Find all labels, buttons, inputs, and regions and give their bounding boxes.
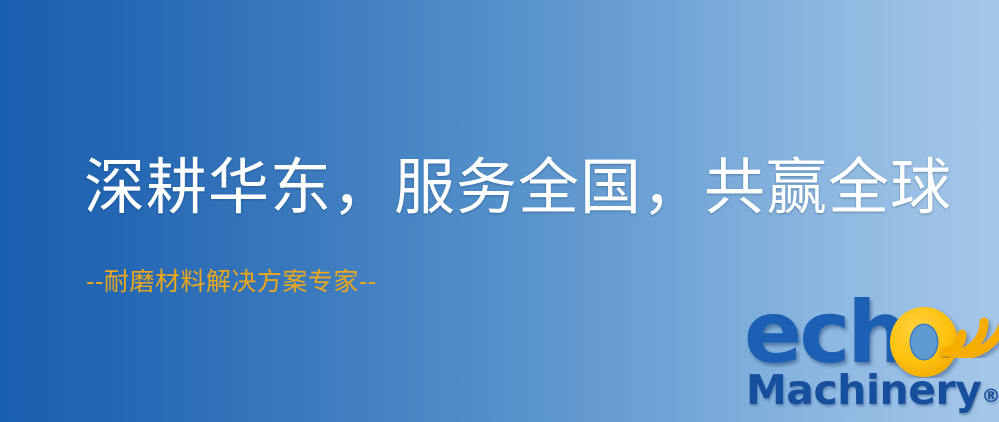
signal-waves-icon — [928, 292, 999, 358]
banner-subtitle: --耐磨材料解决方案专家-- — [86, 266, 377, 298]
logo-machinery-text: Machinery® — [746, 366, 999, 414]
echo-machinery-logo: ech — [742, 294, 994, 420]
banner-headline: 深耕华东，服务全国，共赢全球 — [84, 152, 952, 224]
logo-machinery-label: Machinery — [746, 366, 981, 414]
promo-banner: 深耕华东，服务全国，共赢全球 --耐磨材料解决方案专家-- ech — [0, 0, 999, 422]
registered-trademark-icon: ® — [981, 385, 999, 407]
logo-echo-text: ech — [744, 288, 906, 378]
